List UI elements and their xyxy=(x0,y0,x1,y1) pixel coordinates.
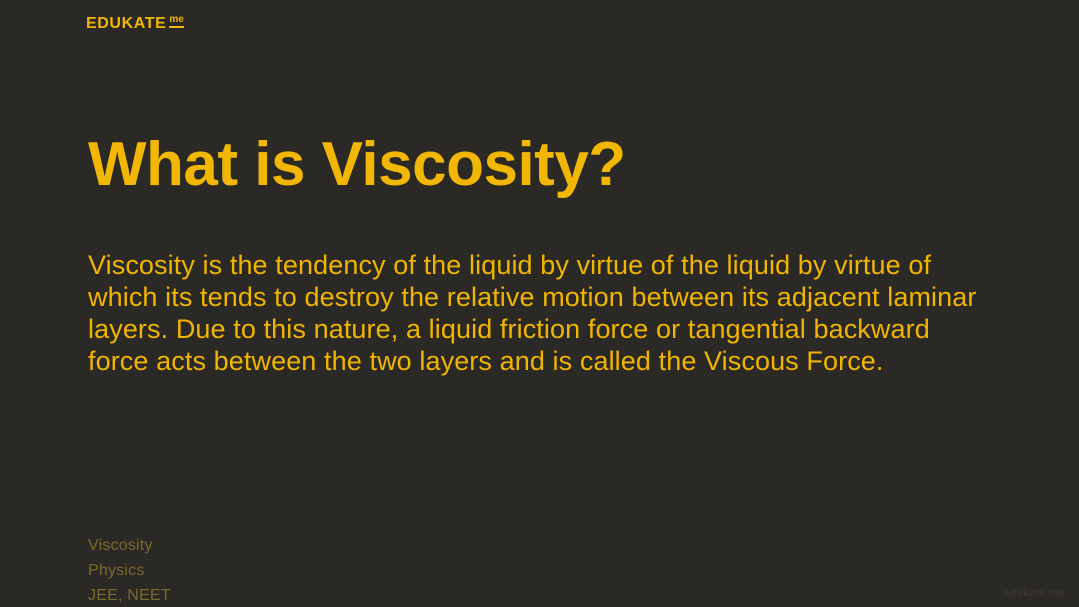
page-title: What is Viscosity? xyxy=(88,132,626,197)
brand-logo[interactable]: EDUKATE me xyxy=(86,16,184,32)
brand-suffix: me xyxy=(169,15,183,28)
slide-canvas: EDUKATE me What is Viscosity? Viscosity … xyxy=(0,0,1079,607)
brand-name: EDUKATE xyxy=(86,16,166,32)
body-paragraph: Viscosity is the tendency of the liquid … xyxy=(88,249,978,377)
watermark: edukate.me xyxy=(1004,587,1066,599)
tag-item-subject: Physics xyxy=(88,558,171,583)
tag-item-exams: JEE, NEET xyxy=(88,583,171,607)
tag-item-topic: Viscosity xyxy=(88,533,171,558)
tag-list: Viscosity Physics JEE, NEET xyxy=(88,533,171,607)
